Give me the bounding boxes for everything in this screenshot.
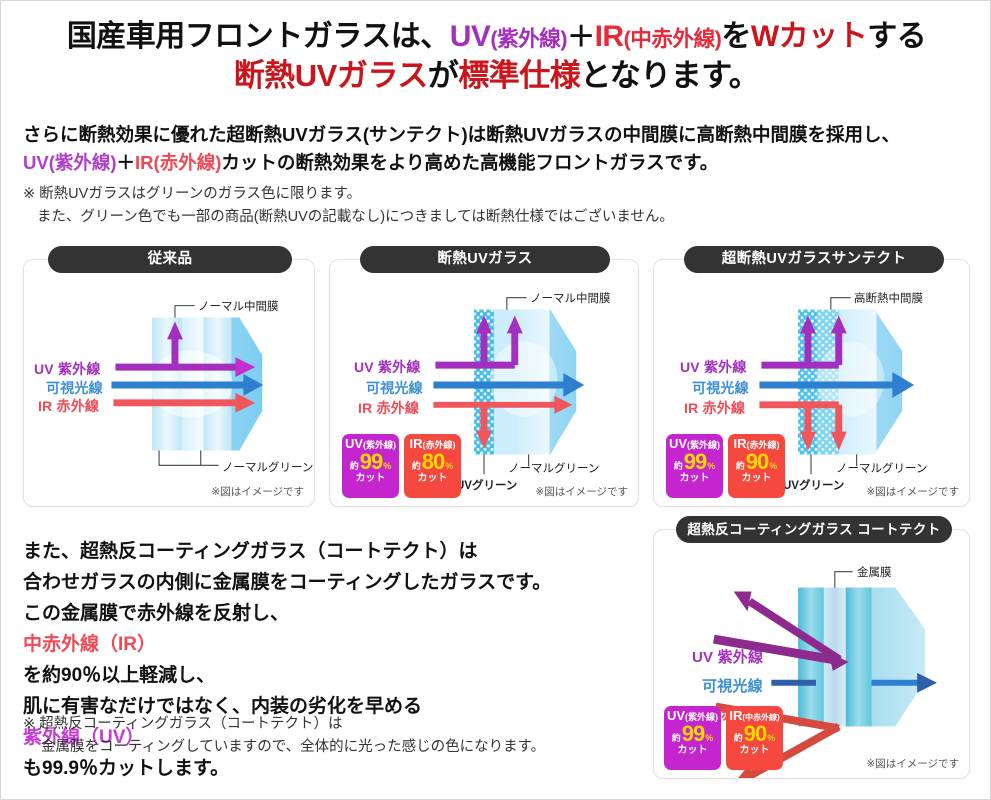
panel-coat-tect: 超熱反コーティングガラス コートテクト (653, 529, 970, 779)
badge-uv: UV(紫外線) 約99% カット (342, 434, 399, 498)
badge-ir: IR(赤外線) 約80% カット (404, 434, 461, 498)
headline-uv-sub: (紫外線) (490, 26, 567, 51)
badge-ir-cut: カット (418, 474, 448, 484)
callout-high-insulation-interlayer: 高断熱中間膜 (854, 290, 923, 306)
callout-metal-film: 金属膜 (857, 564, 892, 580)
badge-ir-label: IR (729, 708, 742, 723)
badge-uv-number: 99 (684, 451, 706, 473)
panel-title-coat-tect: 超熱反コーティングガラス コートテクト (676, 516, 952, 543)
callout-normal-green: ノーマルグリーン (508, 460, 599, 476)
panel-title-suntect: 超断熱UVガラスサンテクト (684, 246, 944, 273)
headline-plus: ＋ (567, 21, 595, 52)
panel-title-conventional: 従来品 (48, 246, 292, 273)
badge-group-insulated-uv: UV(紫外線) 約99% カット IR(赤外線) 約80% カット (342, 434, 461, 498)
badge-uv-pct: % (707, 462, 715, 471)
headline-seg: となります。 (580, 58, 759, 93)
badge-ir-cut: カット (740, 746, 770, 756)
headline-seg: が (428, 58, 459, 93)
headline-ir: IR (595, 20, 624, 53)
badge-uv-number: 99 (682, 723, 704, 745)
badge-ir-number: 90 (746, 451, 768, 473)
headline-product: 断熱UVガラス (234, 58, 428, 93)
coating-line-3: この金属膜で赤外線を反射し、中赤外線（IR）を約90％以上軽減し、 (23, 599, 653, 692)
image-note: ※図はイメージです (535, 484, 628, 499)
callout-normal-interlayer: ノーマル中間膜 (198, 298, 279, 314)
ray-label-visible: 可視光線 (46, 378, 103, 398)
badge-uv: UV(紫外線) 約99% カット (664, 706, 721, 770)
badge-ir-yaku: 約 (736, 462, 745, 471)
callout-normal-interlayer: ノーマル中間膜 (530, 290, 611, 306)
ray-label-visible: 可視光線 (702, 675, 763, 696)
intro-ir: IR(赤外線) (135, 152, 221, 173)
headline-wcut: Wカット (751, 20, 867, 53)
badge-ir-pct: % (445, 462, 453, 471)
intro-line-2: UV(紫外線)＋IR(赤外線)カットの断熱効果をより高めた高機能フロントガラスで… (23, 149, 973, 177)
ray-label-uv: UV 紫外線 (692, 646, 763, 667)
badge-uv-cut: カット (680, 474, 710, 484)
image-note: ※図はイメージです (866, 484, 959, 499)
callout-normal-green: ノーマルグリーン (222, 459, 313, 475)
intro-uv: UV(紫外線) (23, 152, 117, 173)
badge-ir-number: 80 (422, 451, 444, 473)
headline-seg: する (867, 20, 926, 53)
disclaimer-notes: ※ 断熱UVガラスはグリーンのガラス色に限ります。 また、グリーン色でも一部の商… (23, 183, 973, 230)
coating-note-line-1: ※ 超熱反コーティングガラス（コートテクト）は (23, 716, 343, 732)
intro-paragraph: さらに断熱効果に優れた超断熱UVガラス(サンテクト)は断熱UVガラスの中間膜に高… (23, 121, 973, 177)
ray-label-uv: UV 紫外線 (34, 359, 101, 379)
badge-ir-yaku: 約 (734, 734, 743, 743)
coating-line-2: 合わせガラスの内側に金属膜をコーティングしたガラスです。 (23, 568, 653, 599)
badge-ir-cut: カット (742, 474, 772, 484)
headline-ir-sub: (中赤外線) (624, 26, 722, 51)
intro-rest: カットの断熱効果をより高めた高機能フロントガラスです。 (221, 152, 718, 173)
headline-line-1: 国産車用フロントガラスは、UV(紫外線)＋IR(中赤外線)をWカットする (1, 19, 991, 54)
page-title: 国産車用フロントガラスは、UV(紫外線)＋IR(中赤外線)をWカットする 断熱U… (1, 19, 991, 95)
coating-line-1: また、超熱反コーティングガラス（コートテクト）は (23, 537, 653, 568)
headline-seg: 国産車用フロントガラスは、 (67, 20, 450, 53)
ray-label-visible: 可視光線 (692, 378, 749, 398)
badge-ir-pct: % (769, 462, 777, 471)
badge-uv-yaku: 約 (672, 734, 681, 743)
coating-notes: ※ 超熱反コーティングガラス（コートテクト）は 金属膜をコーティングしていますの… (23, 713, 653, 760)
infographic-page: 国産車用フロントガラスは、UV(紫外線)＋IR(中赤外線)をWカットする 断熱U… (0, 0, 991, 800)
badge-uv-yaku: 約 (674, 462, 683, 471)
headline-standard: 標準仕様 (458, 58, 580, 93)
image-note: ※図はイメージです (211, 484, 304, 499)
ray-label-visible: 可視光線 (366, 378, 423, 398)
coating-line-3a: この金属膜で赤外線を反射し、 (23, 599, 653, 630)
headline-line-2: 断熱UVガラスが標準仕様となります。 (1, 58, 991, 95)
coating-note-line-2: 金属膜をコーティングしていますので、全体的に光った感じの色になります。 (23, 736, 653, 759)
badge-uv-cut: カット (678, 746, 708, 756)
badge-uv-number: 99 (360, 451, 382, 473)
badge-uv: UV(紫外線) 約99% カット (666, 434, 723, 498)
ray-label-uv: UV 紫外線 (680, 357, 747, 377)
badge-uv-cut: カット (356, 474, 386, 484)
badge-ir-label: IR (734, 436, 747, 451)
panel-conventional: 従来品 (23, 259, 315, 507)
badge-ir-yaku: 約 (412, 462, 421, 471)
note-line-1: ※ 断熱UVガラスはグリーンのガラス色に限ります。 (23, 186, 361, 202)
callout-normal-green: ノーマルグリーン (836, 460, 927, 476)
badge-ir: IR(中赤外線) 約90% カット (726, 706, 783, 770)
badge-ir: IR(赤外線) 約90% カット (728, 434, 785, 498)
panel-super-insulated-suntect: 超断熱UVガラスサンテクト (653, 259, 970, 507)
note-line-2: また、グリーン色でも一部の商品(断熱UVの記載なし)につきましては断熱仕様ではご… (23, 206, 973, 229)
badge-uv-pct: % (705, 734, 713, 743)
headline-seg: を (721, 20, 751, 53)
ray-label-uv: UV 紫外線 (354, 357, 421, 377)
ray-label-ir: IR 赤外線 (38, 396, 99, 416)
coating-ir-highlight: 中赤外線（IR） (23, 630, 653, 661)
badge-group-suntect: UV(紫外線) 約99% カット IR(赤外線) 約90% カット (666, 434, 785, 498)
coating-line-3c: を約90％以上軽減し、 (23, 661, 653, 692)
intro-plus: ＋ (117, 152, 136, 173)
panel-title-insulated-uv: 断熱UVガラス (360, 246, 610, 273)
badge-group-coat-tect: UV(紫外線) 約99% カット IR(中赤外線) 約90% カット (664, 706, 783, 770)
badge-ir-number: 90 (744, 723, 766, 745)
image-note: ※図はイメージです (866, 756, 959, 771)
badge-uv-pct: % (383, 462, 391, 471)
headline-uv: UV (450, 20, 491, 53)
intro-line-1: さらに断熱効果に優れた超断熱UVガラス(サンテクト)は断熱UVガラスの中間膜に高… (23, 124, 900, 145)
panel-insulated-uv: 断熱UVガラス (329, 259, 639, 507)
badge-ir-pct: % (767, 734, 775, 743)
badge-ir-label: IR (410, 436, 423, 451)
ray-label-ir: IR 赤外線 (684, 398, 745, 418)
badge-uv-yaku: 約 (350, 462, 359, 471)
ray-label-ir: IR 赤外線 (358, 398, 419, 418)
